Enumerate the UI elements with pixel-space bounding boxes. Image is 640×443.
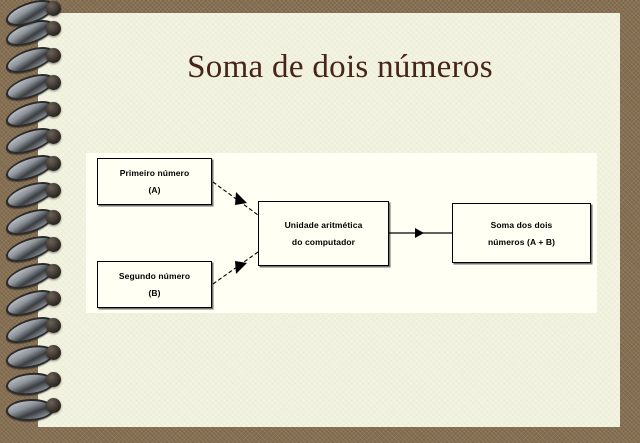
node-label-line2: números (A + B) xyxy=(488,235,555,249)
flowchart-node-processor: Unidade aritmética do computador xyxy=(258,201,389,266)
connector-processor-to-output xyxy=(389,228,452,238)
flowchart-node-input-b: Segundo número (B) xyxy=(97,261,212,308)
connector-input-b-to-processor xyxy=(213,252,258,284)
page-title: Soma de dois números xyxy=(90,48,590,86)
node-label-line1: Primeiro número xyxy=(120,166,190,180)
node-label-line1: Segundo número xyxy=(119,269,190,283)
node-label-line2: do computador xyxy=(292,235,355,249)
flowchart-node-input-a: Primeiro número (A) xyxy=(97,158,212,205)
flowchart-panel: Primeiro número (A) Segundo número (B) U… xyxy=(86,153,597,313)
node-label-line2: (A) xyxy=(148,183,160,197)
node-label-line2: (B) xyxy=(148,286,160,300)
node-label-line1: Unidade aritmética xyxy=(285,218,363,232)
connector-input-a-to-processor xyxy=(213,182,258,215)
node-label-line1: Soma dos dois xyxy=(491,218,553,232)
slide-canvas: Soma de dois números Primeiro número (A) xyxy=(0,0,640,443)
flowchart-node-output: Soma dos dois números (A + B) xyxy=(452,203,591,263)
